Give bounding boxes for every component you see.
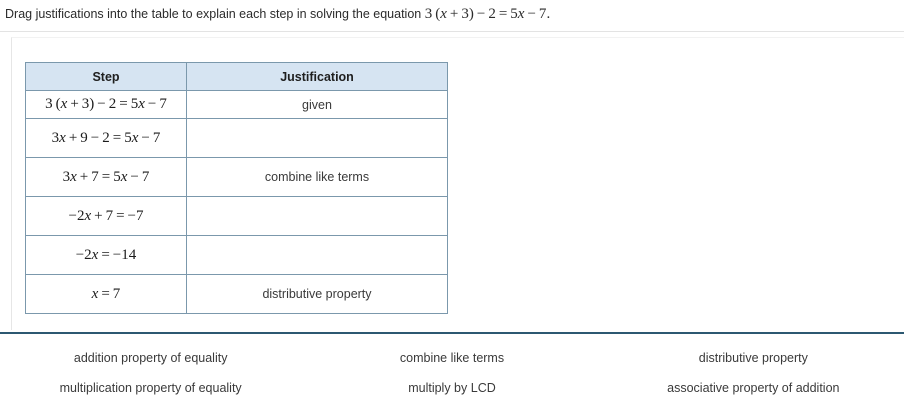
table-row: x = 7 distributive property <box>26 275 448 314</box>
table-row: −2x + 7 = −7 <box>26 197 448 236</box>
draggable-option-distributive-property[interactable]: distributive property <box>603 351 904 365</box>
justification-dropzone[interactable]: distributive property <box>187 275 448 314</box>
table-row: 3 (x + 3) − 2 = 5x − 7 given <box>26 91 448 119</box>
step-cell: −2x = −14 <box>26 236 187 275</box>
draggable-option-addition-property-of-equality[interactable]: addition property of equality <box>0 351 301 365</box>
table-row: −2x = −14 <box>26 236 448 275</box>
column-header-justification: Justification <box>187 63 448 91</box>
justification-dropzone[interactable]: combine like terms <box>187 158 448 197</box>
justification-dropzone[interactable] <box>187 236 448 275</box>
answer-bank: addition property of equality combine li… <box>0 336 904 414</box>
justification-dropzone[interactable] <box>187 197 448 236</box>
answer-bank-row: addition property of equality combine li… <box>0 344 904 372</box>
instruction-lead: Drag justifications into the table to ex… <box>5 7 425 21</box>
draggable-option-multiply-by-lcd[interactable]: multiply by LCD <box>301 381 602 395</box>
answer-bank-divider <box>0 332 904 334</box>
column-header-step: Step <box>26 63 187 91</box>
step-cell: 3 (x + 3) − 2 = 5x − 7 <box>26 91 187 119</box>
table-row: 3x + 7 = 5x − 7 combine like terms <box>26 158 448 197</box>
justification-dropzone[interactable]: given <box>187 91 448 119</box>
steps-table: Step Justification 3 (x + 3) − 2 = 5x − … <box>25 62 448 314</box>
step-cell: 3x + 9 − 2 = 5x − 7 <box>26 119 187 158</box>
table-head: Step Justification <box>26 63 448 91</box>
answer-bank-row: multiplication property of equality mult… <box>0 374 904 402</box>
draggable-option-associative-property-of-addition[interactable]: associative property of addition <box>603 381 904 395</box>
header-divider <box>0 31 904 32</box>
instruction-equation: 3 (x + 3) − 2 = 5x − 7 <box>425 6 547 22</box>
step-cell: 3x + 7 = 5x − 7 <box>26 158 187 197</box>
draggable-option-combine-like-terms[interactable]: combine like terms <box>301 351 602 365</box>
draggable-option-multiplication-property-of-equality[interactable]: multiplication property of equality <box>0 381 301 395</box>
instruction-text: Drag justifications into the table to ex… <box>5 5 895 23</box>
table-row: 3x + 9 − 2 = 5x − 7 <box>26 119 448 158</box>
step-cell: x = 7 <box>26 275 187 314</box>
table-header-row: Step Justification <box>26 63 448 91</box>
table-body: 3 (x + 3) − 2 = 5x − 7 given 3x + 9 − 2 … <box>26 91 448 314</box>
instruction-period: . <box>546 6 550 22</box>
step-cell: −2x + 7 = −7 <box>26 197 187 236</box>
justification-dropzone[interactable] <box>187 119 448 158</box>
